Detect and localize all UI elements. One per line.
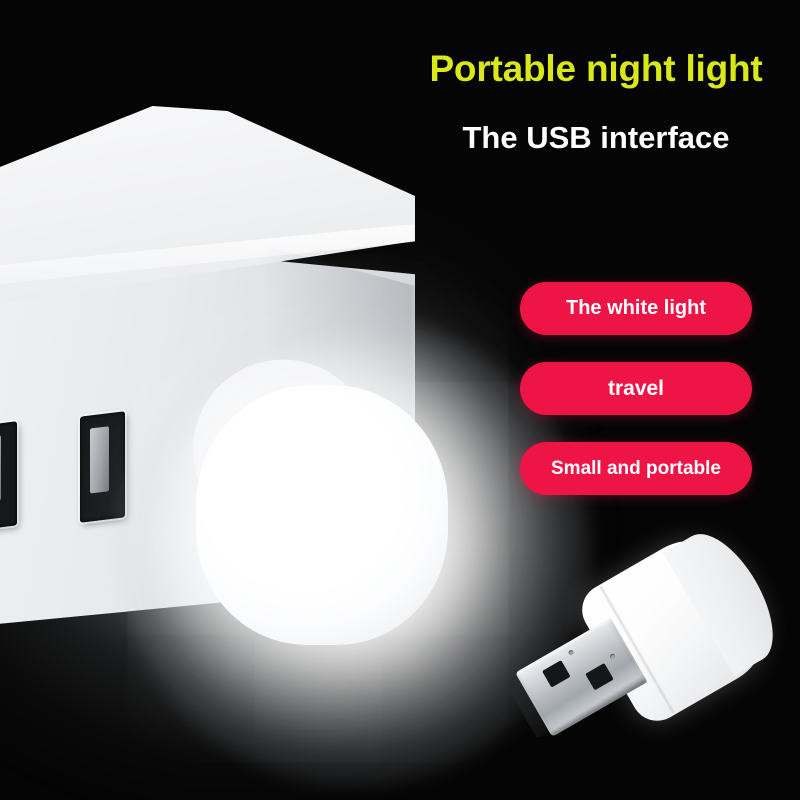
feature-badge-list: The white light travel Small and portabl… — [520, 282, 752, 522]
feature-badge-white-light: The white light — [520, 282, 752, 335]
page-subtitle: The USB interface — [404, 122, 788, 155]
page-title: Portable night light — [404, 50, 788, 89]
usb-led-night-light-illuminated — [196, 385, 448, 645]
product-ad-image: Portable night light The USB interface T… — [0, 0, 800, 800]
feature-badge-small-and-portable: Small and portable — [520, 442, 752, 495]
usb-port-left — [0, 421, 17, 530]
feature-badge-travel: travel — [520, 362, 752, 415]
usb-port-right — [80, 411, 125, 523]
